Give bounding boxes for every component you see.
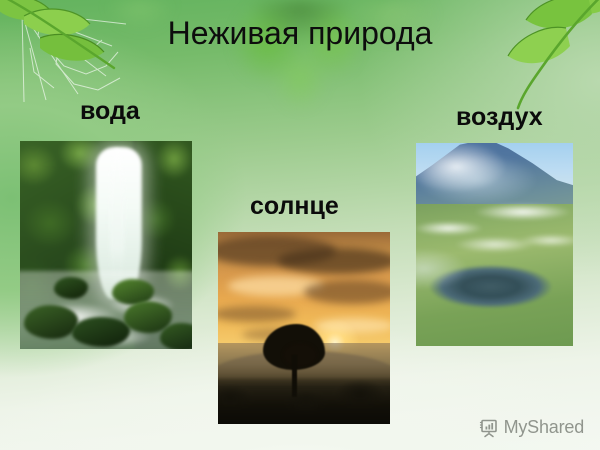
label-sun: солнце — [250, 192, 339, 221]
flipchart-chart-icon — [479, 418, 499, 438]
label-air: воздух — [456, 103, 543, 132]
river-rock — [54, 277, 88, 299]
label-water: вода — [80, 97, 140, 126]
photo-sunset — [218, 232, 390, 424]
watermark-label: MyShared — [504, 417, 584, 438]
myshared-watermark[interactable]: MyShared — [479, 417, 584, 438]
waterfall-artwork — [20, 141, 192, 349]
photo-waterfall — [20, 141, 192, 349]
cloud — [314, 318, 390, 333]
foreground-vegetation — [218, 378, 390, 424]
river-rock — [24, 305, 78, 339]
mist-clouds — [416, 143, 573, 346]
waterfall-stream-side — [110, 149, 125, 291]
mountain-artwork — [416, 143, 573, 346]
slide-title: Неживая природа — [0, 16, 600, 51]
cloud — [304, 280, 390, 304]
river-rock — [72, 317, 130, 347]
river-rock — [160, 323, 192, 349]
photo-mountain — [416, 143, 573, 346]
sunset-artwork — [218, 232, 390, 424]
cloud — [278, 248, 390, 274]
presentation-slide: Неживая природа вода солнце — [0, 0, 600, 450]
